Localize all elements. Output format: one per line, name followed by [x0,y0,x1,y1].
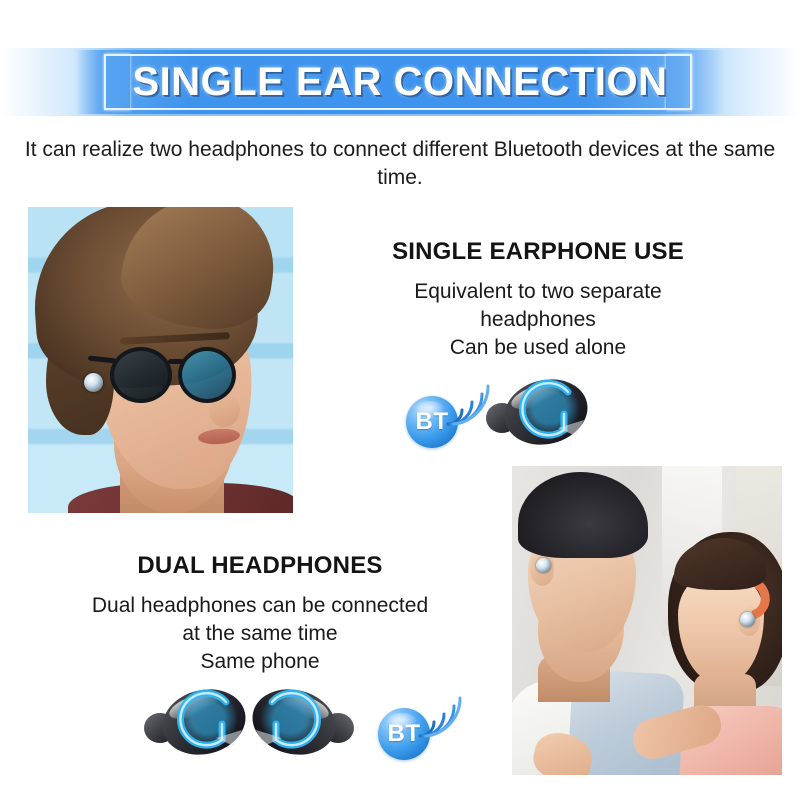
photo-woman-earbud [740,612,755,627]
photo-couple-facing-each-other [512,466,782,775]
page-title: SINGLE EAR CONNECTION [0,48,800,116]
wireless-earbud-icon-single [484,372,592,457]
section-heading: SINGLE EARPHONE USE [338,238,738,266]
wireless-earbud-icon-pair-right [248,682,356,767]
photo-earbud-in-ear [84,373,103,392]
photo-cheek-shading [178,447,230,477]
page-subtitle: It can realize two headphones to connect… [0,136,800,192]
section-line: at the same time [34,620,486,648]
section-line: Can be used alone [338,334,738,362]
bluetooth-signal-waves-icon [414,686,464,742]
wireless-earbud-icon-pair-left [142,682,250,767]
photo-man-earbud [536,558,551,573]
header-banner: SINGLE EAR CONNECTION [0,48,800,116]
section-line: Equivalent to two separate [338,278,738,306]
section-line: Same phone [34,648,486,676]
photo-sunglasses-lens-right [178,347,236,403]
section-line: headphones [338,306,738,334]
section-single-earphone: SINGLE EARPHONE USE Equivalent to two se… [338,238,738,362]
photo-sunglasses-lens-left [110,347,172,403]
section-heading: DUAL HEADPHONES [34,552,486,580]
photo-man-with-sunglasses [28,207,293,513]
section-line: Dual headphones can be connected [34,592,486,620]
section-dual-headphones: DUAL HEADPHONES Dual headphones can be c… [34,552,486,676]
